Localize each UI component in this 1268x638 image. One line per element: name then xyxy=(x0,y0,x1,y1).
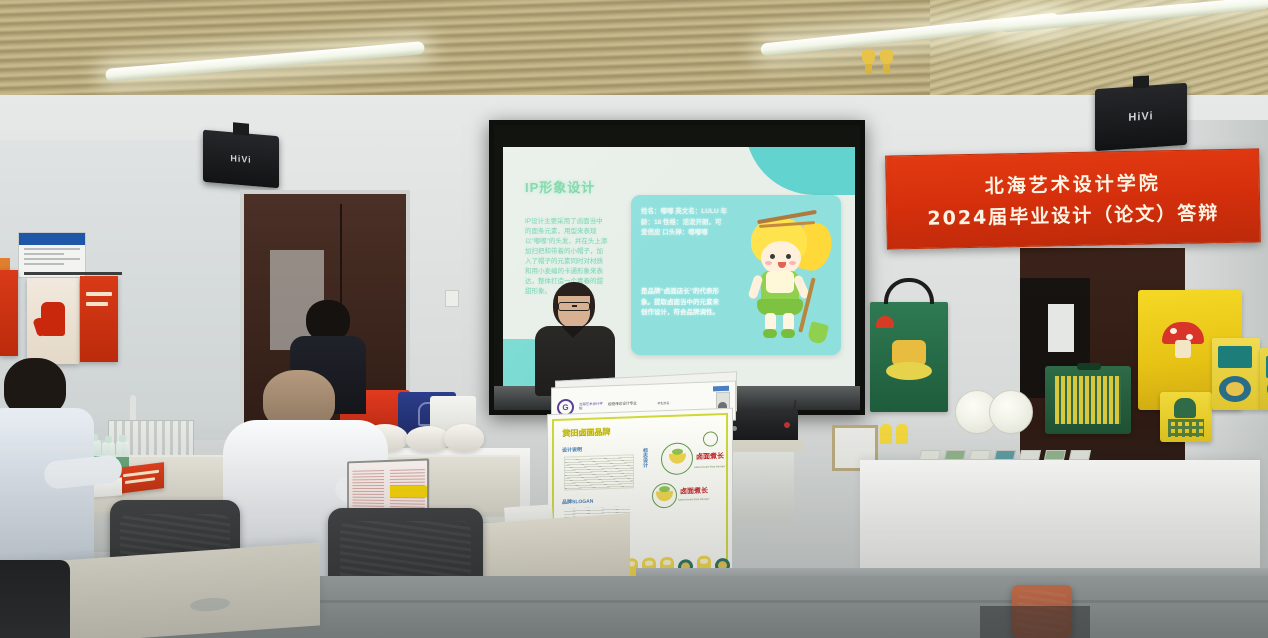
tote-artwork xyxy=(882,332,936,386)
mascot-cheek-left xyxy=(765,261,772,265)
notice-line xyxy=(24,258,80,260)
school-name-label: 北海艺术设计学院 xyxy=(579,401,603,411)
red-propaganda-poster-text xyxy=(80,276,118,362)
mascot-eye-right xyxy=(786,254,791,259)
box-figure-icon xyxy=(1174,398,1196,418)
major-label: 视觉传达设计专业 xyxy=(608,401,652,408)
product-card-a xyxy=(1212,338,1260,410)
green-tote-bag xyxy=(870,302,948,412)
poster-hanging-rod xyxy=(24,272,122,275)
wall-speaker-right: HiVi xyxy=(1095,83,1187,151)
noodle-bowl-icon xyxy=(1219,376,1251,402)
header-badge xyxy=(713,386,729,392)
mushroom-spot xyxy=(1170,328,1177,334)
mascot-shoe-right xyxy=(781,329,795,338)
mascot-shirt xyxy=(766,271,794,293)
mascot-skirt xyxy=(757,299,803,315)
card-teal-band xyxy=(1218,346,1252,368)
banner-line-1: 北海艺术设计学院 xyxy=(984,168,1161,198)
ambient-shadow xyxy=(0,420,1268,638)
student-meta-label: 学生姓名 xyxy=(657,399,711,405)
glasses-icon xyxy=(558,302,590,311)
mushroom-hat-icon xyxy=(876,316,894,328)
mascot-mouth xyxy=(778,262,786,268)
mushroom-illustration-icon xyxy=(1162,322,1204,356)
mushroom-spot xyxy=(1186,334,1193,340)
light-switch[interactable] xyxy=(445,290,459,307)
mascot-cheek-right xyxy=(789,261,796,265)
notice-board-header xyxy=(19,233,85,245)
speaker-mount xyxy=(1133,75,1149,88)
slide-title: IP形象设计 xyxy=(525,177,595,196)
slide-mascot-card: 姓名：嘟嘟 英文名：LULU 年龄：18 性格：活泼开朗，可爱俏皮 口头禅：嘟嘟… xyxy=(631,195,841,355)
red-propaganda-poster-fist xyxy=(27,278,79,364)
speaker-brand-label: HiVi xyxy=(1128,110,1153,124)
gift-box-pattern xyxy=(1055,376,1121,424)
mascot-eye-left xyxy=(770,254,775,259)
red-propaganda-poster-edge xyxy=(0,270,18,356)
fist-icon xyxy=(41,302,65,336)
presenter-face xyxy=(558,296,590,328)
product-card-b xyxy=(1260,348,1268,410)
mascot-shoe-left xyxy=(763,329,777,338)
notice-line xyxy=(24,253,64,255)
trophy-figurine xyxy=(880,50,893,76)
notice-line xyxy=(24,248,80,250)
paper-on-door xyxy=(1048,304,1074,352)
gift-box-handle xyxy=(1077,363,1101,370)
mascot-spec-text: 姓名：嘟嘟 英文名：LULU 年龄：18 性格：活泼开朗，可爱俏皮 口头禅：嘟嘟… xyxy=(641,207,727,239)
banner-line-2: 2024届毕业设计（论文）答辩 xyxy=(927,198,1219,231)
mascot-description-text: 是品牌“卤面店长”的代表形象。提取卤面当中的元素来创作设计，符合品牌调性。 xyxy=(641,287,725,319)
poster-text-line xyxy=(86,302,108,306)
mascot-face xyxy=(761,241,801,275)
defense-room-photo: HiVi HiVi 北海艺术设计学院 2024届毕业设计（论文）答辩 IP形象设… xyxy=(0,0,1268,638)
speaker-brand-label: HiVi xyxy=(230,153,251,165)
mascot-broom-brush xyxy=(807,321,829,345)
poster-text-line xyxy=(86,292,112,296)
slide-decor-topright xyxy=(745,147,855,195)
trophy-figurine xyxy=(862,50,875,76)
wall-speaker-left: HiVi xyxy=(203,130,279,189)
red-hanging-banner: 北海艺术设计学院 2024届毕业设计（论文）答辩 xyxy=(885,148,1261,249)
speaker-mount xyxy=(233,122,249,135)
notice-line xyxy=(24,263,64,265)
mascot-girl-with-broom-icon xyxy=(735,211,831,345)
